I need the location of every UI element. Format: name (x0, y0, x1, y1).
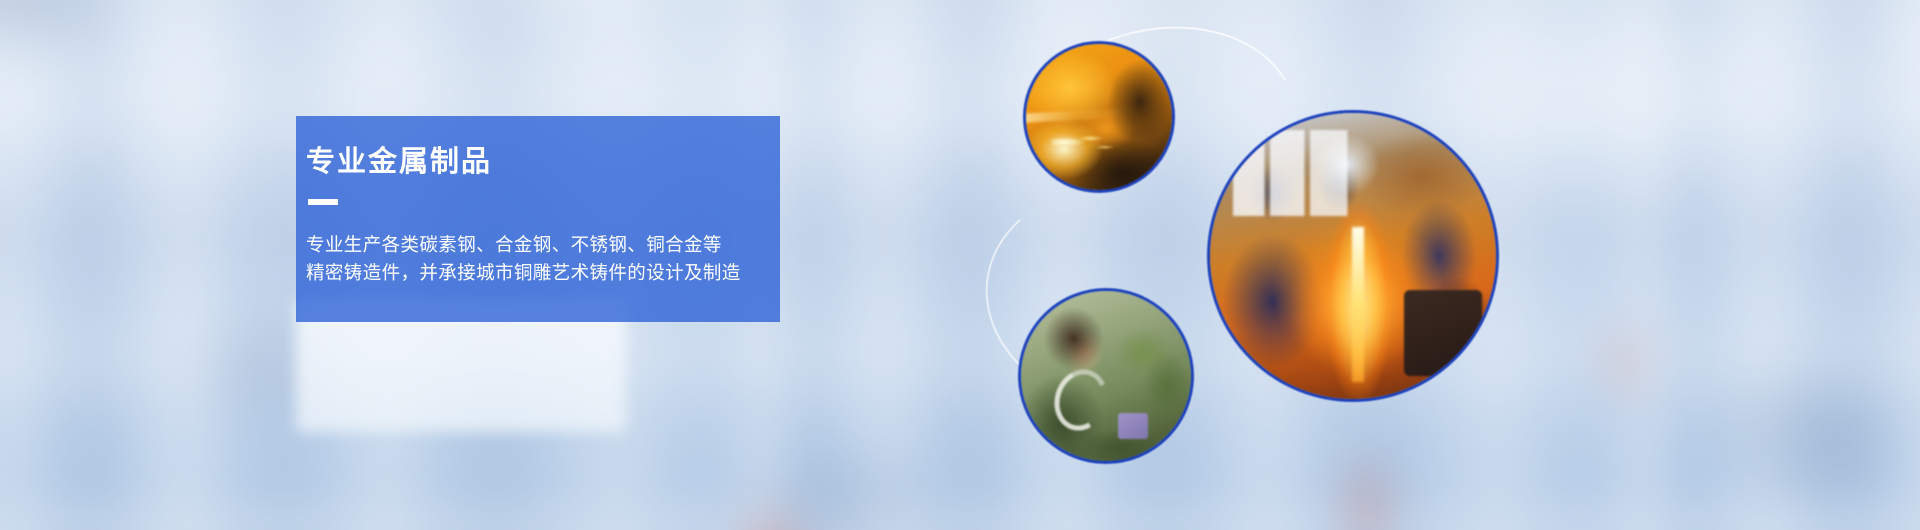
background-tint (0, 0, 1920, 530)
female-worker-photo (1018, 288, 1194, 464)
hero-banner: 专业金属制品 专业生产各类碳素钢、合金钢、不锈钢、铜合金等 精密铸造件，并承接城… (0, 0, 1920, 530)
ladle-barrel (1404, 290, 1482, 376)
text-panel-content: 专业金属制品 专业生产各类碳素钢、合金钢、不锈钢、铜合金等 精密铸造件，并承接城… (296, 116, 780, 288)
text-panel: 专业金属制品 专业生产各类碳素钢、合金钢、不锈钢、铜合金等 精密铸造件，并承接城… (296, 116, 780, 322)
title-divider (308, 199, 338, 205)
workpiece (1118, 413, 1148, 439)
panel-description: 专业生产各类碳素钢、合金钢、不锈钢、铜合金等 精密铸造件，并承接城市铜雕艺术铸件… (306, 231, 780, 287)
welding-sparks-photo (1023, 41, 1175, 193)
female-worker-image (1021, 291, 1191, 461)
foundry-pouring-photo (1207, 110, 1499, 402)
spark-burst (1052, 129, 1114, 155)
panel-description-line-1: 专业生产各类碳素钢、合金钢、不锈钢、铜合金等 (306, 231, 780, 259)
workshop-windows (1233, 130, 1376, 216)
panel-description-line-2: 精密铸造件，并承接城市铜雕艺术铸件的设计及制造 (306, 259, 780, 287)
molten-stream (1352, 227, 1364, 381)
panel-title: 专业金属制品 (306, 146, 780, 179)
